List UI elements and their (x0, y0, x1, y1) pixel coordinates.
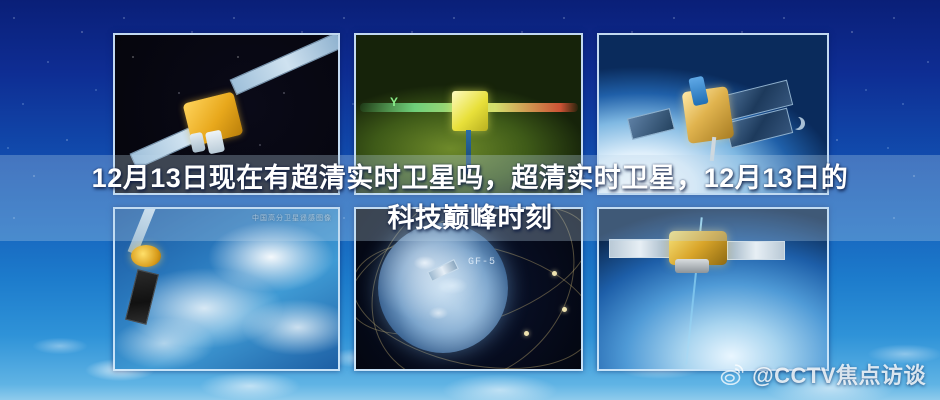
orbit-node (552, 271, 557, 276)
satellite-news-banner: Y 中国高分卫星遥感图像 (0, 0, 940, 400)
solar-panel-left (609, 239, 671, 258)
watermark-handle: @CCTV焦点访谈 (752, 358, 926, 390)
satellite-body (131, 245, 161, 267)
watermark: @CCTV焦点访谈 (720, 358, 926, 390)
page-title: 12月13日现在有超清实时卫星吗，超清实时卫星，12月13日的 科技巅峰时刻 (0, 158, 940, 238)
weibo-logo-icon (720, 362, 745, 387)
antenna-horn (205, 130, 225, 155)
moon-icon (792, 117, 805, 130)
satellite-body (682, 86, 735, 144)
orbit-node (562, 307, 567, 312)
satellite-body (452, 91, 488, 131)
headline-line-2: 科技巅峰时刻 (34, 198, 906, 238)
solar-panel-right (230, 33, 340, 95)
earth-globe (378, 223, 508, 353)
solar-panel-right (727, 241, 785, 260)
antenna-horn-secondary (189, 132, 206, 153)
orbit-node (524, 331, 529, 336)
headline-line-1: 12月13日现在有超清实时卫星吗，超清实时卫星，12月13日的 (92, 163, 849, 193)
satellite-body (182, 91, 243, 146)
render-label: Y (390, 95, 398, 109)
solar-panel-left (627, 108, 675, 140)
satellite-label: GF-5 (468, 257, 496, 268)
solar-panel (125, 269, 159, 325)
instrument-module (675, 259, 709, 273)
